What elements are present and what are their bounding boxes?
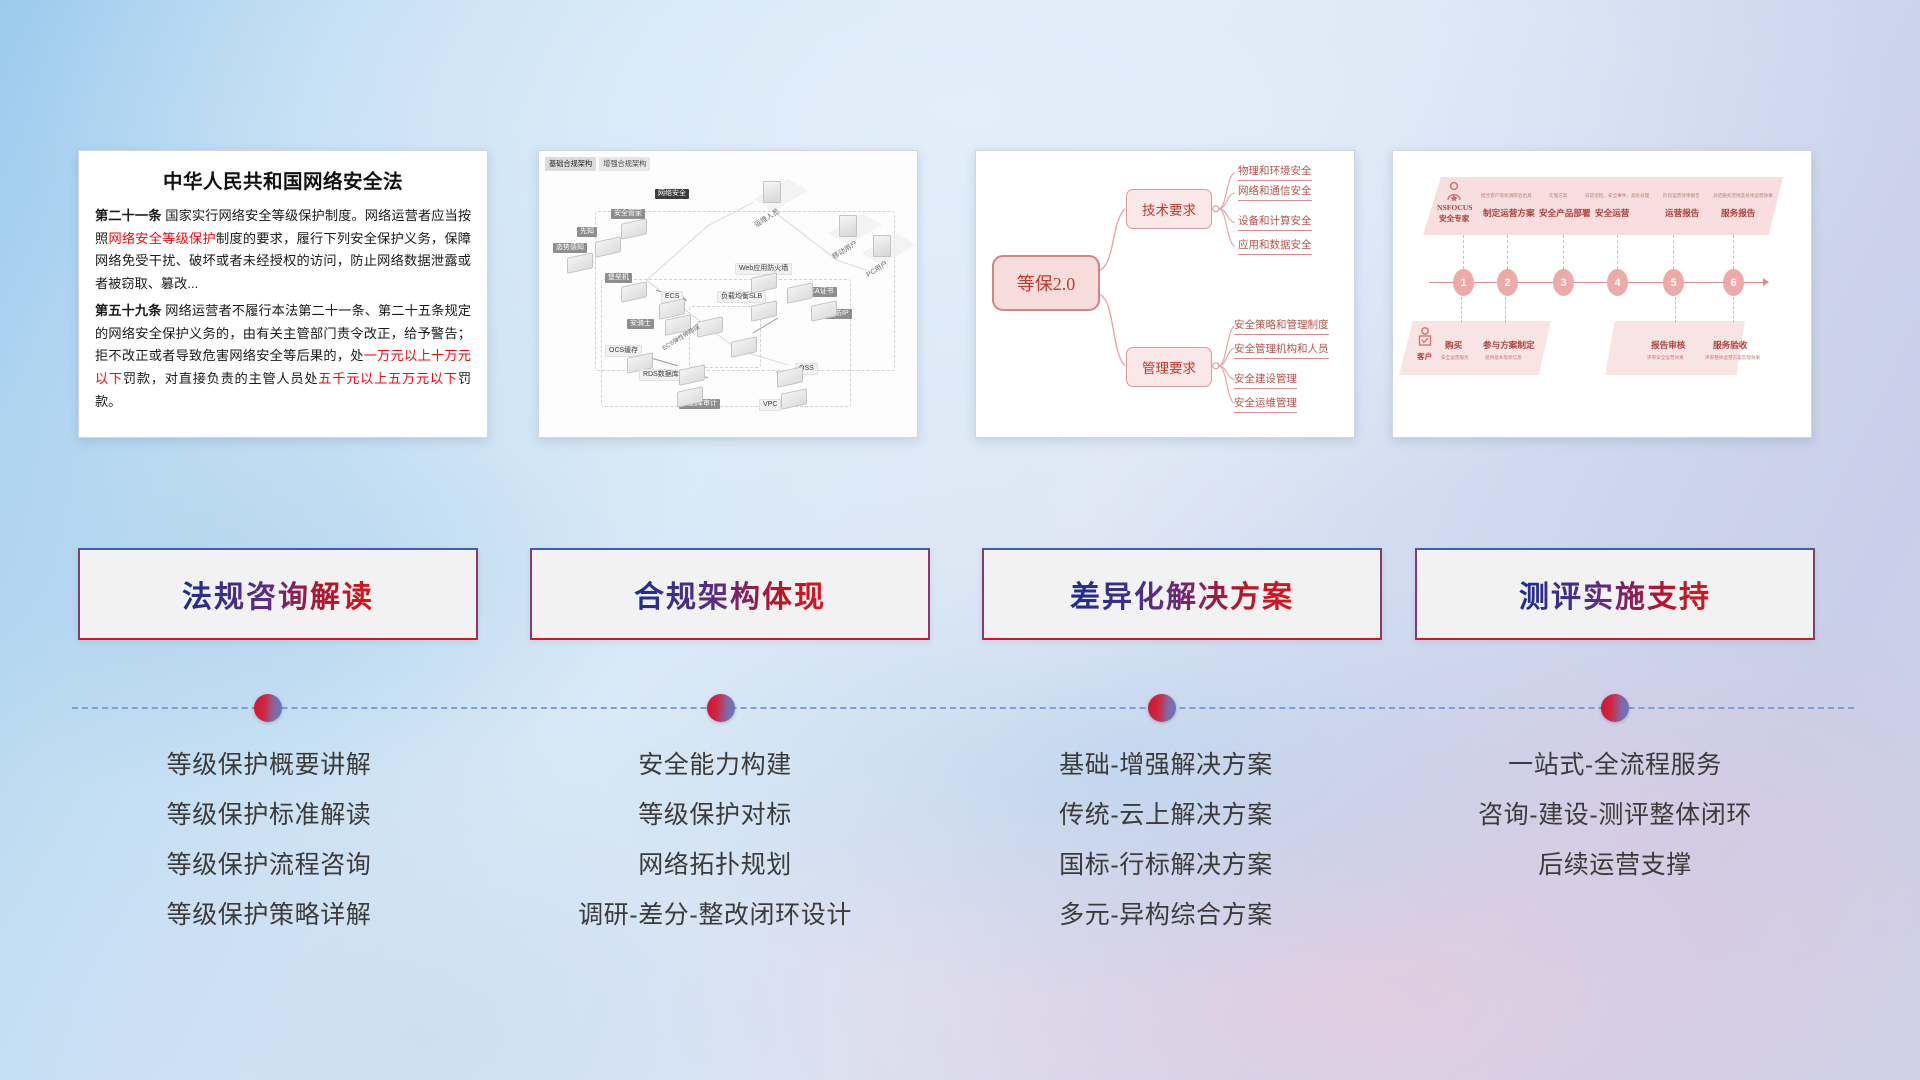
mindmap-root: 等保2.0 [992, 255, 1100, 311]
process-step-dot-5: 5 [1663, 269, 1684, 296]
list-item: 调研-差分-整改闭环设计 [500, 890, 930, 940]
customer-avatar-icon [1417, 327, 1433, 349]
architecture-node-vpc: VPC [759, 399, 781, 411]
list-item: 国标-行标解决方案 [951, 840, 1381, 890]
architecture-node-waf: Web应用防火墙 [735, 263, 792, 275]
process-provider-role-line1: NSFOCUS [1437, 203, 1472, 212]
process-axis-arrow-icon [1763, 278, 1769, 286]
list-item: 等级保护标准解读 [54, 790, 484, 840]
architecture-icon-oss [777, 366, 803, 388]
process-step2-title: 制定运营方案 [1483, 207, 1535, 219]
process-step-dot-3: 3 [1553, 269, 1574, 296]
architecture-icon-ecs [659, 298, 685, 320]
card-gallery: 中华人民共和国网络安全法 第二十一条 国家实行网络安全等级保护制度。网络运营者应… [0, 150, 1920, 440]
process-step3-sub: 实施方案 [1549, 193, 1567, 199]
card-service-process: NSFOCUS 安全专家 结合客户现状调研后出具 制定运营方案 实施方案 安全产… [1392, 150, 1812, 438]
architecture-node-bastion: 堡垒机 [605, 273, 632, 283]
list-item: 基础-增强解决方案 [951, 740, 1381, 790]
architecture-icon-bastion [621, 281, 647, 303]
process-diagram: NSFOCUS 安全专家 结合客户现状调研后出具 制定运营方案 实施方案 安全产… [1393, 151, 1811, 437]
mindmap: 等保2.0 技术要求 物理和环境安全 网络和通信安全 设备和计算安全 应用和数据… [976, 151, 1354, 437]
architecture-node-anqishi: 安骑士 [627, 319, 654, 329]
list-item: 等级保护概要讲解 [54, 740, 484, 790]
detail-columns: 等级保护概要讲解 等级保护标准解读 等级保护流程咨询 等级保护策略详解 安全能力… [0, 740, 1920, 970]
law-article-21: 第二十一条 国家实行网络安全等级保护制度。网络运营者应当按照网络安全等级保护制度… [95, 205, 471, 296]
card-compliance-architecture: 基础合规架构 增强合规架构 [538, 150, 918, 438]
architecture-node-security-butler: 安全管家 [611, 209, 645, 219]
detail-column-1: 等级保护概要讲解 等级保护标准解读 等级保护流程咨询 等级保护策略详解 [54, 740, 484, 940]
architecture-icon-slb [751, 300, 777, 322]
process-tick-c1 [1461, 297, 1462, 323]
process-step-dot-1: 1 [1453, 269, 1474, 296]
mindmap-branch-technical: 技术要求 [1126, 189, 1212, 229]
timeline [0, 688, 1920, 728]
process-customer-step4-sub: 评审整体运营方案实现效果 [1705, 355, 1760, 361]
process-customer-step1-title: 购买 [1445, 339, 1462, 351]
mindmap-leaf-t2: 网络和通信安全 [1238, 183, 1312, 201]
architecture-icon-security-butler [621, 218, 647, 240]
process-step6-sub: 总结服务范围及总体运营效果 [1713, 193, 1773, 199]
list-item: 多元-异构综合方案 [951, 890, 1381, 940]
architecture-node-rds: RDS数据库 [639, 369, 683, 381]
process-tick-4 [1617, 235, 1618, 269]
law-article-21-label: 第二十一条 [95, 208, 162, 223]
list-item: 等级保护流程咨询 [54, 840, 484, 890]
process-tick-c4 [1733, 297, 1734, 323]
law-article-59-label: 第五十九条 [95, 303, 162, 318]
list-item: 等级保护对标 [500, 790, 930, 840]
process-step-dot-4: 4 [1607, 269, 1628, 296]
mindmap-leaf-m2: 安全管理机构和人员 [1234, 341, 1329, 359]
architecture-icon-rds [679, 364, 705, 386]
process-tick-c3 [1675, 297, 1676, 323]
process-step4-sub: 日常巡检、安全事件、高危处理 [1585, 193, 1649, 199]
list-item: 等级保护策略详解 [54, 890, 484, 940]
section-heading-label-4: 测评实施支持 [1519, 572, 1711, 616]
process-customer-step1-sub: 安全运营服务 [1441, 355, 1469, 361]
mindmap-leaf-m3: 安全建设管理 [1234, 371, 1297, 389]
process-tick-5 [1673, 235, 1674, 269]
list-item: 后续运营支撑 [1400, 840, 1830, 890]
process-tick-3 [1563, 235, 1564, 269]
process-step6-title: 服务报告 [1721, 207, 1755, 219]
list-item: 咨询-建设-测评整体闭环 [1400, 790, 1830, 840]
process-step5-title: 运营报告 [1665, 207, 1699, 219]
section-heading-label-1: 法规咨询解读 [182, 572, 374, 616]
process-step-dot-6: 6 [1723, 269, 1744, 296]
section-heading-regulation-consulting[interactable]: 法规咨询解读 [78, 548, 478, 640]
process-tick-1 [1463, 235, 1464, 269]
process-tick-c2 [1505, 297, 1506, 323]
mindmap-leaf-t4: 应用和数据安全 [1238, 237, 1312, 255]
card-dengbao-mindmap: 等保2.0 技术要求 物理和环境安全 网络和通信安全 设备和计算安全 应用和数据… [975, 150, 1355, 438]
architecture-diagram: 基础合规架构 增强合规架构 [539, 151, 917, 437]
law-article-59-penalty-2: 五千元以上五万元以下 [318, 371, 458, 386]
timeline-dot-4[interactable] [1601, 694, 1629, 722]
mindmap-leaf-m1: 安全策略和管理制度 [1234, 317, 1329, 335]
process-customer-step3-sub: 评审安全运营效果 [1647, 355, 1684, 361]
section-heading-assessment-support[interactable]: 测评实施支持 [1415, 548, 1815, 640]
section-heading-label-3: 差异化解决方案 [1070, 572, 1294, 616]
architecture-node-xianzhi: 先知 [577, 227, 597, 237]
section-headings: 法规咨询解读 合规架构体现 差异化解决方案 测评实施支持 [0, 548, 1920, 644]
process-tick-2 [1507, 235, 1508, 269]
process-customer-role: 客户 [1417, 351, 1432, 362]
mindmap-leaf-t1: 物理和环境安全 [1238, 163, 1312, 181]
card-cybersecurity-law: 中华人民共和国网络安全法 第二十一条 国家实行网络安全等级保护制度。网络运营者应… [78, 150, 488, 438]
process-step5-sub: 阶段运营效果报告 [1663, 193, 1700, 199]
section-heading-label-2: 合规架构体现 [634, 572, 826, 616]
list-item: 一站式-全流程服务 [1400, 740, 1830, 790]
architecture-node-situation-awareness: 态势感知 [553, 243, 587, 253]
architecture-icon-pc-user [873, 235, 891, 257]
expert-avatar-icon [1445, 181, 1463, 201]
section-heading-differentiated-solution[interactable]: 差异化解决方案 [982, 548, 1382, 640]
process-step3-title: 安全产品部署 [1539, 207, 1591, 219]
architecture-icon-mobile-user [839, 215, 857, 237]
law-article-21-highlight: 网络安全等级保护 [108, 231, 216, 246]
architecture-node-slb: 负载均衡SLB [717, 291, 766, 303]
mindmap-branch-management: 管理要求 [1126, 347, 1212, 387]
law-text-block: 中华人民共和国网络安全法 第二十一条 国家实行网络安全等级保护制度。网络运营者应… [79, 151, 487, 427]
section-heading-compliance-architecture[interactable]: 合规架构体现 [530, 548, 930, 640]
process-tick-6 [1733, 235, 1734, 269]
architecture-icon-waf [751, 272, 777, 294]
architecture-icon-ecs-3 [731, 336, 757, 358]
timeline-dashed-line [72, 707, 1854, 709]
mindmap-leaf-t3: 设备和计算安全 [1238, 213, 1312, 231]
architecture-icon-ca [787, 282, 813, 304]
process-band-provider [1423, 177, 1783, 235]
law-article-59: 第五十九条 网络运营者不履行本法第二十一条、第二十五条规定的网络安全保护义务的，… [95, 300, 471, 414]
process-customer-step3-title: 报告审核 [1651, 339, 1685, 351]
detail-column-4: 一站式-全流程服务 咨询-建设-测评整体闭环 后续运营支撑 [1400, 740, 1830, 890]
timeline-dot-2[interactable] [707, 694, 735, 722]
list-item: 安全能力构建 [500, 740, 930, 790]
process-step4-title: 安全运营 [1595, 207, 1629, 219]
process-customer-step2-title: 参与方案制定 [1483, 339, 1535, 351]
process-customer-step4-title: 服务验收 [1713, 339, 1747, 351]
process-step-dot-2: 2 [1497, 269, 1518, 296]
mindmap-leaf-m4: 安全运维管理 [1234, 395, 1297, 413]
architecture-icon-vpc [781, 388, 807, 410]
architecture-icon-situation-awareness [567, 252, 593, 274]
list-item: 网络拓扑规划 [500, 840, 930, 890]
list-item: 传统-云上解决方案 [951, 790, 1381, 840]
architecture-icon-ops-user [763, 181, 781, 203]
timeline-dot-3[interactable] [1148, 694, 1176, 722]
process-customer-step2-sub: 提供基本现状信息 [1485, 355, 1522, 361]
process-axis [1429, 282, 1765, 283]
process-provider-role-line2: 安全专家 [1439, 213, 1469, 224]
architecture-icon-anti-ddos [811, 300, 837, 322]
slide-stage: 中华人民共和国网络安全法 第二十一条 国家实行网络安全等级保护制度。网络运营者应… [0, 0, 1920, 1080]
architecture-icon-db-audit [677, 386, 703, 408]
timeline-dot-1[interactable] [254, 694, 282, 722]
process-step2-sub: 结合客户现状调研后出具 [1481, 193, 1532, 199]
law-title: 中华人民共和国网络安全法 [95, 165, 471, 194]
detail-column-2: 安全能力构建 等级保护对标 网络拓扑规划 调研-差分-整改闭环设计 [500, 740, 930, 940]
detail-column-3: 基础-增强解决方案 传统-云上解决方案 国标-行标解决方案 多元-异构综合方案 [951, 740, 1381, 940]
architecture-badge: 网络安全 [655, 189, 689, 199]
law-article-59-text-b: 罚款，对直接负责的主管人员处 [123, 371, 318, 386]
architecture-icon-xianzhi [595, 236, 621, 258]
